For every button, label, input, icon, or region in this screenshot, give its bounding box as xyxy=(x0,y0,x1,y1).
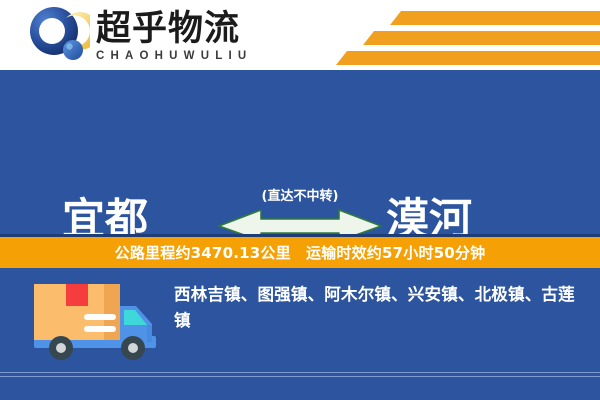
header-stripe-2 xyxy=(363,31,600,45)
delivery-truck-icon xyxy=(28,278,168,366)
distance-bar: 公路里程约3470.13公里 运输时效约57小时50分钟 xyxy=(0,234,600,268)
route-panel: 宜都 (直达不中转) 【往返运输】 漠河 xyxy=(0,70,600,230)
brand-name-en: CHAOHUWULIU xyxy=(96,49,252,63)
coverage-section: 西林吉镇、图强镇、阿木尔镇、兴安镇、北极镇、古莲镇 xyxy=(0,268,600,372)
coverage-towns-text: 西林吉镇、图强镇、阿木尔镇、兴安镇、北极镇、古莲镇 xyxy=(174,282,584,334)
bottom-divider-line-1 xyxy=(0,372,600,373)
brand-text-block: 超乎物流 CHAOHUWULIU xyxy=(96,10,252,63)
direct-route-note: (直达不中转) xyxy=(215,188,385,205)
brand-logo-block: 超乎物流 CHAOHUWULIU xyxy=(28,6,252,66)
header-stripes-decoration xyxy=(340,0,600,70)
distance-text: 公路里程约3470.13公里 运输时效约57小时50分钟 xyxy=(115,242,486,263)
header-bar: 超乎物流 CHAOHUWULIU xyxy=(0,0,600,70)
brand-name-cn: 超乎物流 xyxy=(96,10,252,48)
circle-q-logo-icon xyxy=(28,6,90,66)
logistics-route-poster: 超乎物流 CHAOHUWULIU 宜都 (直达不中转) 【往返运输】 漠河 公路… xyxy=(0,0,600,400)
header-stripe-1 xyxy=(390,11,600,25)
header-stripe-3 xyxy=(336,51,600,65)
bottom-divider-line-2 xyxy=(0,376,600,377)
